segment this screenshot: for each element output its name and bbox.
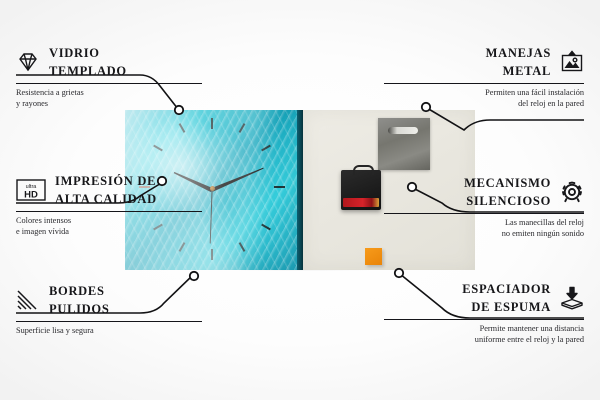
feature-bordes-pulidos: BORDES PULIDOS Superficie lisa y segura <box>16 282 216 337</box>
gear-icon <box>560 180 584 204</box>
diagonal-lines-icon <box>16 288 40 312</box>
clock-tick <box>153 145 163 152</box>
feature-espaciador-espuma: ESPACIADOR DE ESPUMA Permite mantener un… <box>384 280 584 345</box>
feature-header: VIDRIO TEMPLADO <box>16 44 216 80</box>
divider <box>16 211 202 212</box>
feature-manejas-metal: MANEJAS METAL Permiten una fácil instala… <box>384 44 584 109</box>
feature-title: MANEJAS METAL <box>486 44 551 80</box>
feature-header: MECANISMO SILENCIOSO <box>384 174 584 210</box>
feature-desc-line1: Colores intensos <box>16 216 216 227</box>
divider <box>384 319 584 320</box>
clock-tick <box>211 118 213 129</box>
clock-mechanism <box>341 170 381 210</box>
clock-tick <box>179 123 186 133</box>
svg-text:HD: HD <box>24 190 38 201</box>
aa-battery <box>343 198 379 207</box>
feature-desc-line1: Permiten una fácil instalación <box>384 88 584 99</box>
ultra-hd-icon: ultra HD <box>16 178 46 202</box>
feature-title: VIDRIO TEMPLADO <box>49 44 127 80</box>
feature-title: IMPRESIÓN DE ALTA CALIDAD <box>55 172 157 208</box>
clock-tick <box>179 242 186 252</box>
press-down-foam-icon <box>560 286 584 310</box>
feature-desc-line2: e imagen vívida <box>16 227 216 238</box>
feature-title: ESPACIADOR DE ESPUMA <box>462 280 551 316</box>
feature-desc-line2: no emiten ningún sonido <box>384 229 584 240</box>
clock-minute-hand <box>211 166 264 192</box>
feature-desc-line2: del reloj en la pared <box>384 99 584 110</box>
feature-header: ultra HD IMPRESIÓN DE ALTA CALIDAD <box>16 172 216 208</box>
feature-desc-line1: Permite mantener una distancia <box>384 324 584 335</box>
feature-header: ESPACIADOR DE ESPUMA <box>384 280 584 316</box>
clock-tick <box>274 186 285 188</box>
feature-impresion-alta-calidad: ultra HD IMPRESIÓN DE ALTA CALIDAD Color… <box>16 172 216 237</box>
metal-hanger-plate <box>378 118 430 170</box>
feature-vidrio-templado: VIDRIO TEMPLADO Resistencia a grietas y … <box>16 44 216 109</box>
feature-desc-line2: uniforme entre el reloj y la pared <box>384 335 584 346</box>
feature-title: MECANISMO SILENCIOSO <box>464 174 551 210</box>
divider <box>384 83 584 84</box>
feature-header: BORDES PULIDOS <box>16 282 216 318</box>
feature-mecanismo-silencioso: MECANISMO SILENCIOSO Las manecillas del … <box>384 174 584 239</box>
clock-tick <box>211 249 213 260</box>
infographic-canvas: VIDRIO TEMPLADO Resistencia a grietas y … <box>0 0 600 400</box>
feature-title: BORDES PULIDOS <box>49 282 109 318</box>
clock-tick <box>261 145 271 152</box>
feature-desc-line2: y rayones <box>16 99 216 110</box>
clock-tick <box>239 242 246 252</box>
hanger-keyhole-slot <box>388 127 418 134</box>
divider <box>16 321 202 322</box>
clock-tick <box>239 123 246 133</box>
orange-foam-spacer <box>365 248 382 265</box>
clock-tick <box>261 224 271 231</box>
mechanism-handle <box>353 165 374 175</box>
feature-header: MANEJAS METAL <box>384 44 584 80</box>
picture-frame-hanger-icon <box>560 50 584 74</box>
diamond-icon <box>16 50 40 74</box>
divider <box>384 213 584 214</box>
divider <box>16 83 202 84</box>
feature-desc-line1: Las manecillas del reloj <box>384 218 584 229</box>
feature-desc-line1: Resistencia a grietas <box>16 88 216 99</box>
feature-desc-line1: Superficie lisa y segura <box>16 326 216 337</box>
